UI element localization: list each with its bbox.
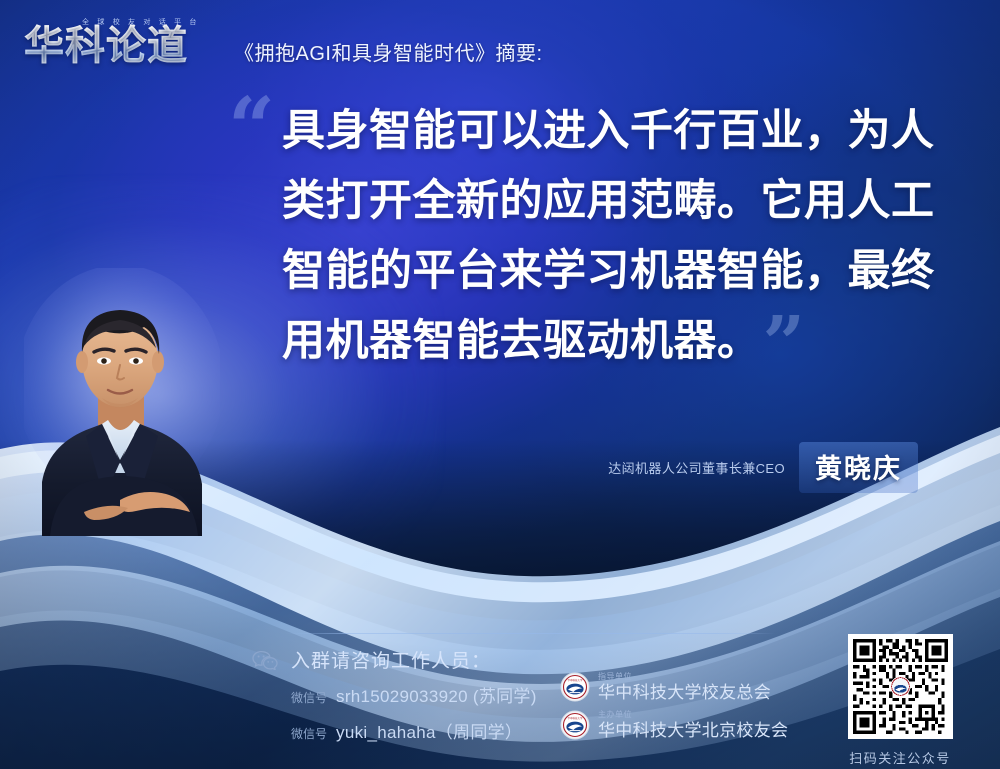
qr-code-matrix — [853, 639, 948, 734]
organization-texts: 指导单位 华中科技大学校友总会 — [598, 673, 771, 701]
hust-alumni-seal-icon: 华中科技大学 — [560, 710, 590, 740]
qr-code-icon[interactable] — [848, 634, 953, 739]
speaker-name-badge: 黄晓庆 — [799, 442, 918, 493]
organization-kind: 指导单位 — [598, 673, 771, 681]
quote-line-last: 用机器智能去驱动机器。” — [282, 306, 968, 376]
quote-line-text: 用机器智能去驱动机器。 — [282, 316, 761, 366]
footer-divider — [285, 633, 775, 634]
contact-value: yuki_hahaha（周同学） — [336, 718, 522, 743]
organization-row: 华中科技大学 指导单位 华中科技大学校友总会 — [560, 668, 788, 706]
contact-label: 微信号 — [291, 725, 327, 742]
organization-list: 华中科技大学 指导单位 华中科技大学校友总会 华中科技大学 主办单位 华 — [560, 668, 788, 744]
svg-text:华中科技大学: 华中科技大学 — [567, 678, 583, 682]
speaker-attribution: 达闼机器人公司董事长兼CEO 黄晓庆 — [608, 442, 918, 493]
quote-line: 类打开全新的应用范畴。它用人工 — [282, 166, 968, 236]
qr-caption: 扫码关注公众号 — [843, 748, 957, 767]
logo-wordmark: 华科论道 — [24, 24, 188, 68]
organization-kind: 主办单位 — [598, 711, 788, 719]
svg-text:华中科技大学: 华中科技大学 — [567, 716, 583, 720]
contact-label: 微信号 — [291, 689, 327, 706]
poster-canvas: 全 球 校 友 对 话 平 台 华科论道 《拥抱AGI和具身智能时代》摘要: “… — [0, 0, 1000, 769]
speaker-portrait — [24, 268, 220, 536]
footer-title: 入群请咨询工作人员： — [291, 646, 491, 673]
contact-value: srh15029033920 (苏同学) — [336, 682, 537, 707]
speaker-role: 达闼机器人公司董事长兼CEO — [608, 458, 785, 477]
wechat-icon — [252, 650, 278, 670]
organization-row: 华中科技大学 主办单位 华中科技大学北京校友会 — [560, 706, 788, 744]
organization-name: 华中科技大学北京校友会 — [598, 722, 788, 739]
qr-block: 扫码关注公众号 — [843, 634, 957, 767]
quote-line: 智能的平台来学习机器智能，最终 — [282, 236, 968, 306]
quote-open-mark: “ — [228, 98, 275, 158]
brand-logo[interactable]: 全 球 校 友 对 话 平 台 华科论道 — [24, 14, 220, 72]
organization-texts: 主办单位 华中科技大学北京校友会 — [598, 711, 788, 739]
quote-block: “ 具身智能可以进入千行百业，为人 类打开全新的应用范畴。它用人工 智能的平台来… — [228, 96, 968, 376]
poster-header: 全 球 校 友 对 话 平 台 华科论道 《拥抱AGI和具身智能时代》摘要: — [24, 10, 543, 72]
quote-text: 具身智能可以进入千行百业，为人 类打开全新的应用范畴。它用人工 智能的平台来学习… — [282, 96, 968, 376]
organization-name: 华中科技大学校友总会 — [598, 684, 771, 701]
quote-line: 具身智能可以进入千行百业，为人 — [282, 96, 968, 166]
page-title: 《拥抱AGI和具身智能时代》摘要: — [234, 37, 543, 72]
hust-alumni-seal-icon: 华中科技大学 — [560, 672, 590, 702]
